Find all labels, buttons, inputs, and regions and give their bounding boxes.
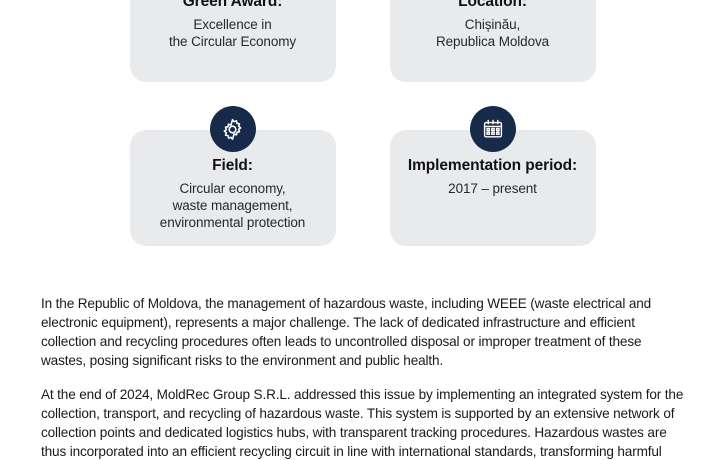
card-location: Location: Chișinău, Republica Moldova: [390, 0, 596, 82]
card-text-line: Chișinău,: [400, 16, 586, 33]
card-row-top: Green Award: Excellence in the Circular …: [0, 0, 725, 82]
card-body: Location: Chișinău, Republica Moldova: [390, 0, 596, 82]
gear-icon: [210, 106, 256, 152]
card-title: Implementation period:: [400, 156, 586, 175]
card-text-line: Circular economy,: [140, 180, 326, 197]
card-text: Circular economy, waste management, envi…: [140, 180, 326, 231]
info-cards-region: Green Award: Excellence in the Circular …: [0, 0, 725, 246]
calendar-icon: [470, 106, 516, 152]
card-text-line: Excellence in: [140, 16, 326, 33]
card-text: 2017 – present: [400, 180, 586, 197]
card-green-award: Green Award: Excellence in the Circular …: [130, 0, 336, 82]
card-text-line: the Circular Economy: [140, 33, 326, 50]
card-body: Green Award: Excellence in the Circular …: [130, 0, 336, 82]
card-text-line: waste management,: [140, 197, 326, 214]
paragraph-overview: In the Republic of Moldova, the manageme…: [41, 294, 689, 370]
card-text: Excellence in the Circular Economy: [140, 16, 326, 50]
card-text-line: Republica Moldova: [400, 33, 586, 50]
card-title: Green Award:: [140, 0, 326, 11]
card-title: Field:: [140, 156, 326, 175]
card-implementation-period: Implementation period: 2017 – present: [390, 106, 596, 246]
card-title: Location:: [400, 0, 586, 11]
card-text-line: environmental protection: [140, 214, 326, 231]
card-text-line: 2017 – present: [400, 180, 586, 197]
body-copy: In the Republic of Moldova, the manageme…: [41, 294, 689, 460]
paragraph-solution: At the end of 2024, MoldRec Group S.R.L.…: [41, 385, 689, 460]
card-row-bottom: Field: Circular economy, waste managemen…: [0, 106, 725, 246]
card-field: Field: Circular economy, waste managemen…: [130, 106, 336, 246]
card-text: Chișinău, Republica Moldova: [400, 16, 586, 50]
